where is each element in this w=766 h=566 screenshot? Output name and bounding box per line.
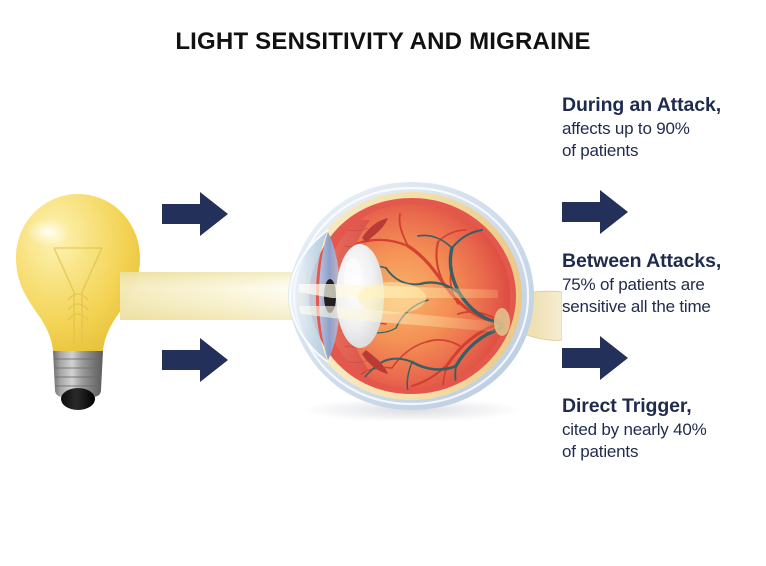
- callout-heading: During an Attack,: [562, 93, 766, 118]
- callout-body: affects up to 90% of patients: [562, 118, 766, 162]
- eye-cross-section-icon: [262, 172, 562, 422]
- callout-body: 75% of patients are sensitive all the ti…: [562, 274, 766, 318]
- page-title: LIGHT SENSITIVITY AND MIGRAINE: [0, 28, 766, 56]
- callout-line-1: affects up to 90%: [562, 118, 766, 140]
- callout-line-2: sensitive all the time: [562, 296, 766, 318]
- callout-body: cited by nearly 40% of patients: [562, 419, 766, 463]
- callout-during-attack: During an Attack, affects up to 90% of p…: [562, 93, 766, 162]
- infographic-canvas: LIGHT SENSITIVITY AND MIGRAINE: [0, 0, 766, 566]
- callout-line-2: of patients: [562, 441, 766, 463]
- callout-line-2: of patients: [562, 140, 766, 162]
- callout-heading: Between Attacks,: [562, 249, 766, 274]
- callout-between-attacks: Between Attacks, 75% of patients are sen…: [562, 249, 766, 318]
- callout-direct-trigger: Direct Trigger, cited by nearly 40% of p…: [562, 394, 766, 463]
- arrow-right-icon: [160, 190, 230, 238]
- bulb-contact-tip: [61, 388, 95, 410]
- arrow-right-icon: [560, 188, 630, 236]
- callout-line-1: cited by nearly 40%: [562, 419, 766, 441]
- optic-disc: [494, 308, 510, 336]
- arrow-right-icon: [560, 334, 630, 382]
- callout-heading: Direct Trigger,: [562, 394, 766, 419]
- bulb-highlight: [26, 218, 70, 246]
- callout-line-1: 75% of patients are: [562, 274, 766, 296]
- arrow-right-icon: [160, 336, 230, 384]
